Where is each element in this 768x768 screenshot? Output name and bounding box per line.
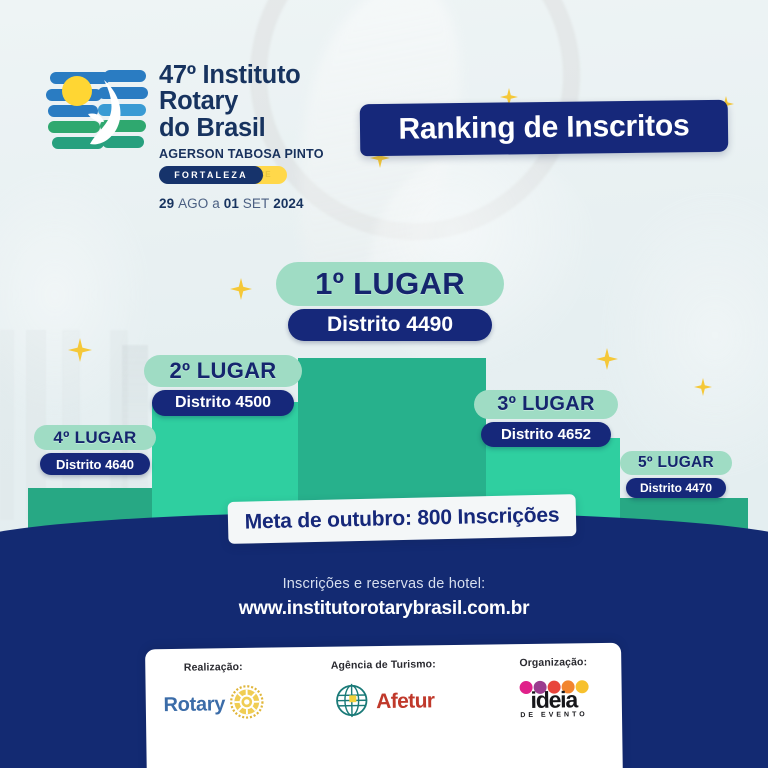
podium-chart: 1º LUGAR Distrito 4490 2º LUGAR Distrito… — [0, 0, 768, 560]
rank-district-3: Distrito 4652 — [481, 422, 611, 447]
rank-label-2: 2º LUGAR Distrito 4500 — [144, 355, 302, 416]
sponsors-card: Realização: Rotary — [145, 643, 623, 768]
rank-district-4: Distrito 4640 — [40, 453, 150, 475]
rank-place-1: 1º LUGAR — [276, 262, 504, 306]
rank-place-4: 4º LUGAR — [34, 425, 156, 450]
globe-icon — [333, 681, 372, 725]
rank-district-1: Distrito 4490 — [288, 309, 492, 341]
rank-district-5: Distrito 4470 — [626, 478, 726, 498]
sponsor-caption-organizacao: Organização: — [487, 656, 619, 670]
rotary-wheel-icon — [230, 684, 265, 723]
rank-place-3: 3º LUGAR — [474, 390, 618, 419]
goal-banner: Meta de outubro: 800 Inscrições — [228, 494, 577, 544]
poster-canvas: 47º Instituto Rotary do Brasil AGERSON T… — [0, 0, 768, 768]
footer-website-link[interactable]: www.institutorotarybrasil.com.br — [0, 598, 768, 620]
goal-text: Meta de outubro: 800 Inscrições — [244, 503, 559, 534]
afetur-logo: Afetur — [317, 678, 450, 726]
ideia-logo: ideia DE EVENTO — [487, 676, 620, 724]
rotary-wordmark: Rotary — [163, 693, 225, 717]
sponsor-organizacao: Organização: ideia DE EVENTO — [487, 656, 620, 724]
rank-district-2: Distrito 4500 — [152, 390, 294, 416]
ideia-tagline: DE EVENTO — [519, 712, 588, 720]
sponsor-realizacao: Realização: Rotary — [147, 660, 280, 728]
rank-label-1: 1º LUGAR Distrito 4490 — [276, 262, 504, 341]
sponsor-caption-turismo: Agência de Turismo: — [317, 658, 449, 672]
rank-place-5: 5º LUGAR — [620, 451, 732, 475]
afetur-wordmark: Afetur — [376, 689, 435, 714]
rank-place-2: 2º LUGAR — [144, 355, 302, 387]
sponsor-caption-realizacao: Realização: — [147, 660, 279, 674]
rank-label-4: 4º LUGAR Distrito 4640 — [34, 425, 156, 475]
rank-label-5: 5º LUGAR Distrito 4470 — [620, 451, 732, 498]
footer-caption: Inscrições e reservas de hotel: — [0, 576, 768, 592]
rank-label-3: 3º LUGAR Distrito 4652 — [474, 390, 618, 447]
sponsor-agencia-turismo: Agência de Turismo: Afetur — [317, 658, 450, 726]
rotary-logo: Rotary — [148, 680, 281, 728]
